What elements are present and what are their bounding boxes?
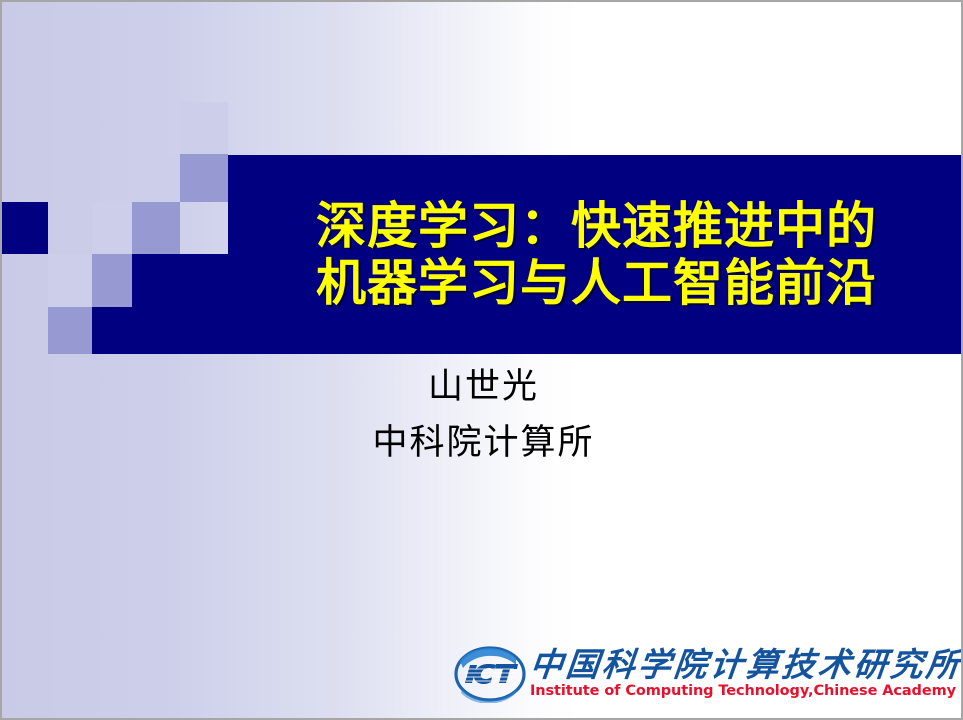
decor-block-8 bbox=[132, 254, 228, 307]
decor-block-0 bbox=[180, 102, 228, 154]
decor-block-3 bbox=[2, 202, 48, 254]
slide-title: 深度学习：快速推进中的 机器学习与人工智能前沿 bbox=[228, 155, 963, 354]
title-banner: 深度学习：快速推进中的 机器学习与人工智能前沿 bbox=[228, 155, 963, 354]
presentation-slide: 深度学习：快速推进中的 机器学习与人工智能前沿 山世光 中科院计算所 bbox=[0, 0, 963, 720]
decor-block-2 bbox=[180, 154, 228, 202]
decor-block-4 bbox=[92, 202, 132, 254]
ict-logo-mark-icon bbox=[454, 645, 526, 703]
slide-background-gradient bbox=[2, 2, 963, 720]
ict-logo-chinese-name: 中国科学院计算技术研究所 bbox=[528, 648, 963, 683]
decor-block-7 bbox=[92, 254, 132, 307]
author-organization: 中科院计算所 bbox=[2, 426, 963, 461]
decor-block-1 bbox=[132, 154, 180, 202]
title-line-2: 机器学习与人工智能前沿 bbox=[316, 255, 877, 312]
decor-block-5 bbox=[132, 202, 180, 254]
ict-logo: 中国科学院计算技术研究所 Institute of Computing Tech… bbox=[454, 640, 954, 708]
decor-block-10 bbox=[92, 307, 228, 354]
ict-logo-english-name: Institute of Computing Technology,Chines… bbox=[530, 684, 963, 700]
ict-logo-text: 中国科学院计算技术研究所 Institute of Computing Tech… bbox=[530, 648, 963, 701]
author-block: 山世光 中科院计算所 bbox=[2, 370, 963, 461]
decor-block-6 bbox=[48, 254, 92, 307]
title-line-1: 深度学习：快速推进中的 bbox=[316, 198, 877, 255]
decor-block-9 bbox=[48, 307, 92, 354]
author-name: 山世光 bbox=[2, 370, 963, 405]
